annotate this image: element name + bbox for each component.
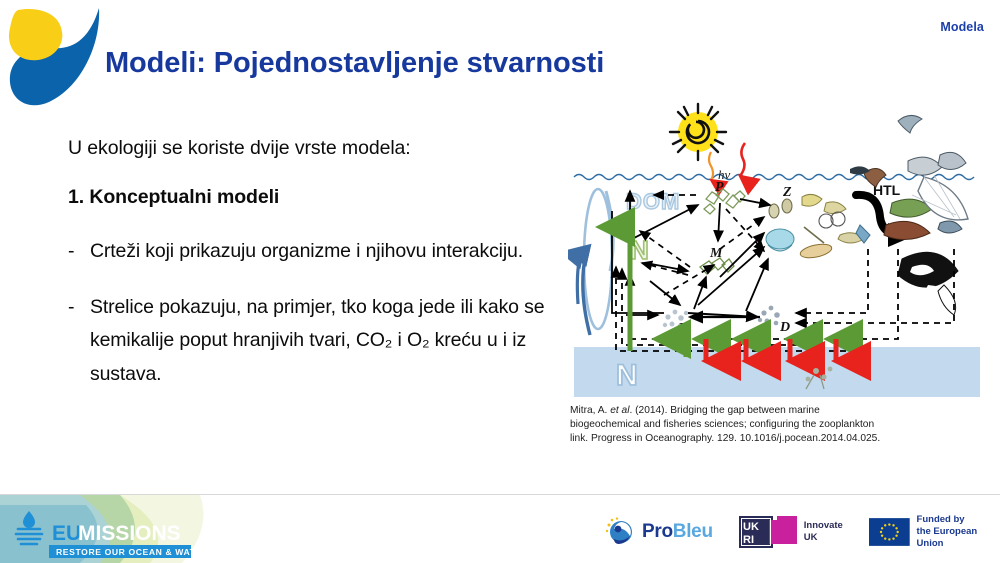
eu-missions-logo: EU MISSIONS RESTORE OUR OCEAN & WATERS	[0, 495, 215, 563]
svg-text:RI: RI	[743, 534, 754, 546]
probleu-pro: Pro	[642, 521, 673, 542]
funded-by-eu-logo: Funded by the European Union	[869, 514, 1000, 550]
sun-icon	[670, 104, 726, 160]
detritus-label: D	[779, 320, 790, 335]
funded-by-line1: Funded by	[917, 514, 1000, 526]
probleu-swirl-icon	[605, 517, 635, 547]
probleu-logo: ProBleu	[605, 517, 713, 547]
caption-line1-b: . (2014). Bridging the gap between marin…	[629, 405, 819, 416]
funded-by-line2: the European Union	[917, 526, 1000, 550]
bullet-text: Strelice pokazuju, na primjer, tko koga …	[90, 291, 548, 392]
innovate-uk-wordmark: Innovate UK	[804, 520, 843, 543]
list-item: - Crteži koji prikazuju organizme i njih…	[68, 235, 548, 269]
caption-line1-a: Mitra, A.	[570, 405, 610, 416]
bullet-marker: -	[68, 235, 78, 269]
section-subheading: 1. Konceptualni modeli	[68, 186, 548, 209]
body-column: U ekologiji se koriste dvije vrste model…	[68, 136, 548, 414]
eu-mission-swoosh-logo	[4, 2, 108, 110]
caption-line3: link. Progress in Oceanography. 129. 10.…	[570, 433, 880, 444]
eu-missions-eu: EU	[52, 522, 81, 545]
bullet-marker: -	[68, 291, 78, 392]
zooplankton-label: Z	[782, 185, 792, 200]
slide: Modela Modeli: Pojednostavljenje stvarno…	[0, 0, 1000, 563]
innovate-uk-line1: Innovate	[804, 520, 843, 531]
food-web-diagram-svg: hν DOM N N P M B D Z HTL	[568, 99, 986, 400]
page-title: Modeli: Pojednostavljenje stvarnosti	[105, 47, 604, 80]
eu-flag-icon	[869, 517, 910, 547]
dom-label: DOM	[626, 189, 680, 214]
caption-line1-italic: et al	[610, 405, 629, 416]
list-item: - Strelice pokazuju, na primjer, tko kog…	[68, 291, 548, 392]
eu-missions-tagline: RESTORE OUR OCEAN & WATERS	[56, 547, 215, 557]
svg-text:UK: UK	[743, 521, 759, 533]
funded-by-eu-wordmark: Funded by the European Union	[917, 514, 1000, 550]
corner-tag: Modela	[940, 20, 984, 34]
bacteria-label: B	[677, 321, 687, 336]
ukri-block-icon: UK RI	[739, 516, 797, 548]
nutrient-deep-label: N	[616, 359, 638, 392]
caption-line2: biogeochemical and fisheries sciences; c…	[570, 419, 874, 430]
footer-logo-row: ProBleu UK RI Innovate UK	[605, 514, 1000, 550]
probleu-wordmark: ProBleu	[642, 521, 713, 543]
bullet-text: Crteži koji prikazuju organizme i njihov…	[90, 235, 548, 269]
figure-caption: Mitra, A. et al. (2014). Bridging the ga…	[570, 404, 970, 446]
ukri-innovate-uk-logo: UK RI Innovate UK	[739, 516, 843, 548]
innovate-uk-line2: UK	[804, 532, 843, 543]
probleu-bleu: Bleu	[673, 521, 713, 542]
eu-missions-missions: MISSIONS	[78, 522, 181, 545]
marine-food-web-figure: hν DOM N N P M B D Z HTL	[568, 99, 986, 400]
lead-paragraph: U ekologiji se koriste dvije vrste model…	[68, 136, 548, 160]
